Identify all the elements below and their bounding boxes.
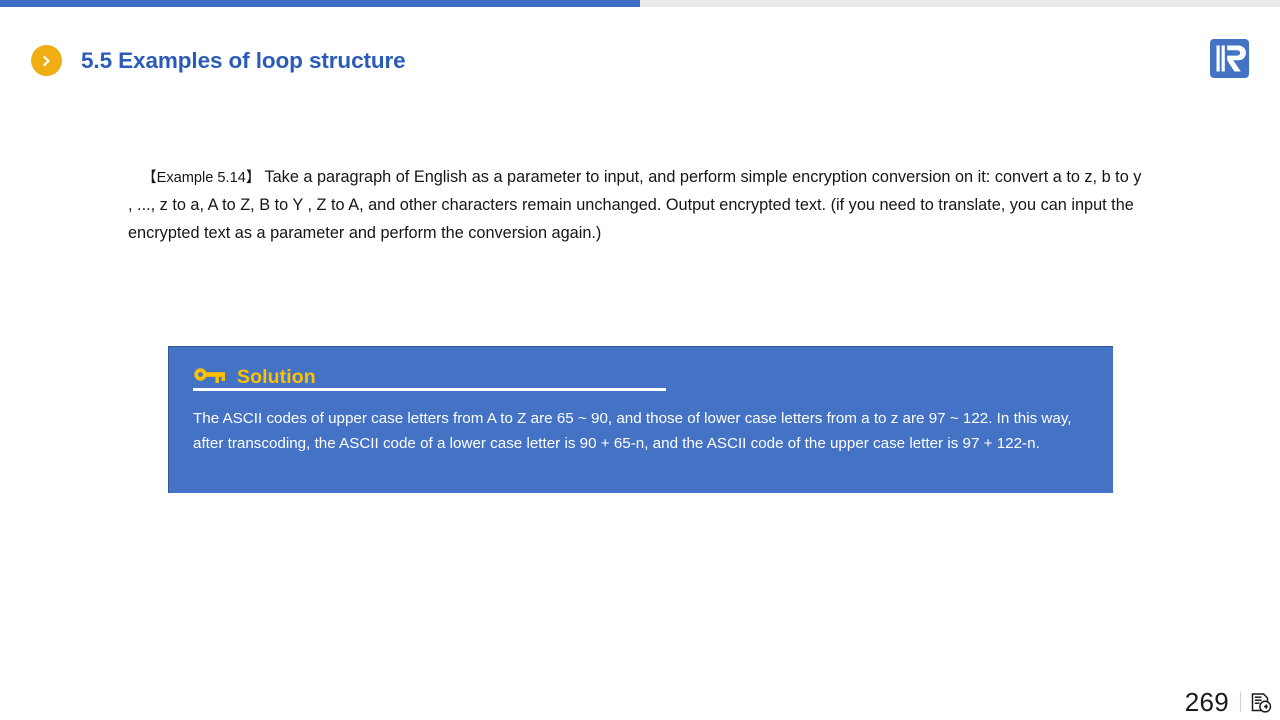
- page-number: 269: [1185, 689, 1229, 715]
- example-paragraph: 【Example 5.14】 Take a paragraph of Engli…: [128, 164, 1144, 247]
- progress-bar-fill: [0, 0, 640, 7]
- solution-label: Solution: [237, 366, 316, 389]
- page-title: 5.5 Examples of loop structure: [81, 48, 406, 74]
- solution-text: The ASCII codes of upper case letters fr…: [193, 407, 1073, 456]
- publisher-r-book-logo: [1207, 36, 1252, 81]
- slide-footer: 269: [1185, 689, 1272, 715]
- example-tag: 【Example 5.14】: [142, 170, 264, 186]
- solution-divider: [193, 388, 666, 391]
- document-back-arrow-icon[interactable]: [1250, 692, 1272, 714]
- slide-header: 5.5 Examples of loop structure: [0, 7, 1280, 97]
- progress-bar-track[interactable]: [0, 0, 1280, 7]
- key-icon: [193, 366, 227, 388]
- chevron-right-circle-icon: [31, 45, 62, 76]
- solution-callout: Solution The ASCII codes of upper case l…: [168, 346, 1113, 493]
- example-body-text: Take a paragraph of English as a paramet…: [128, 168, 1141, 242]
- footer-divider: [1240, 692, 1241, 712]
